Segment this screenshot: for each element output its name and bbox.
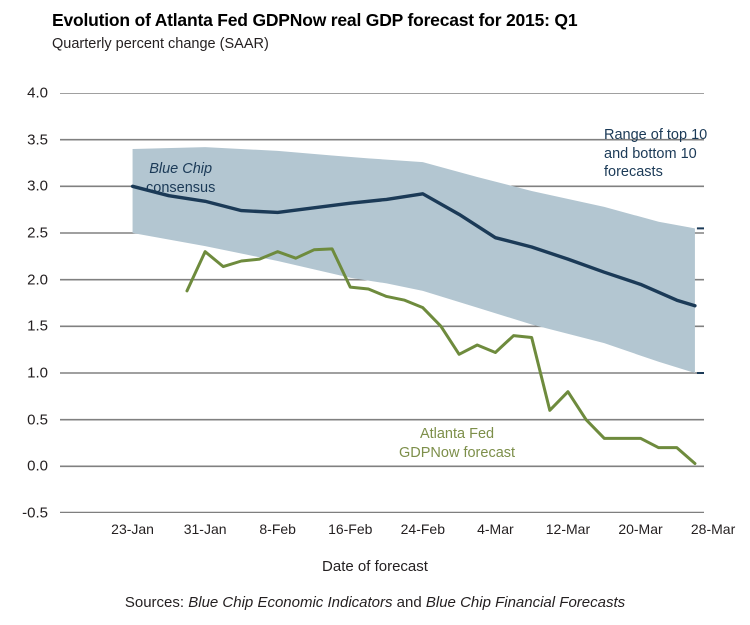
annotation-gdpnow-line1: Atlanta Fed (420, 426, 494, 442)
x-tick-label: 8-Feb (259, 521, 296, 537)
x-tick-label: 28-Mar (691, 521, 735, 537)
annotation-range-line2: and bottom 10 (604, 146, 697, 162)
x-tick-label: 24-Feb (401, 521, 445, 537)
annotation-bluechip-line1: Blue Chip (149, 161, 212, 177)
annotation-range-line3: forecasts (604, 164, 663, 180)
annotation-bluechip-consensus: Blue Chip consensus (146, 160, 215, 197)
x-tick-label: 31-Jan (184, 521, 227, 537)
x-tick-label: 4-Mar (477, 521, 514, 537)
sources-prefix: Sources: (125, 594, 184, 611)
range-bracket (697, 228, 704, 373)
sources-note: Sources: Blue Chip Economic Indicators a… (0, 594, 750, 611)
sources-conjunction: and (397, 594, 422, 611)
chart-root: Evolution of Atlanta Fed GDPNow real GDP… (0, 0, 750, 625)
sources-italic-1: Blue Chip Economic Indicators (188, 594, 392, 611)
x-tick-label: 16-Feb (328, 521, 372, 537)
sources-italic-2: Blue Chip Financial Forecasts (426, 594, 625, 611)
annotation-gdpnow: Atlanta Fed GDPNow forecast (399, 425, 515, 462)
annotation-range-line1: Range of top 10 (604, 127, 707, 143)
annotation-bluechip-line2: consensus (146, 180, 215, 196)
annotation-range: Range of top 10 and bottom 10 forecasts (604, 126, 707, 182)
x-tick-label: 20-Mar (618, 521, 662, 537)
x-axis-title: Date of forecast (0, 558, 750, 575)
annotation-gdpnow-line2: GDPNow forecast (399, 445, 515, 461)
x-tick-label: 12-Mar (546, 521, 590, 537)
x-tick-label: 23-Jan (111, 521, 154, 537)
